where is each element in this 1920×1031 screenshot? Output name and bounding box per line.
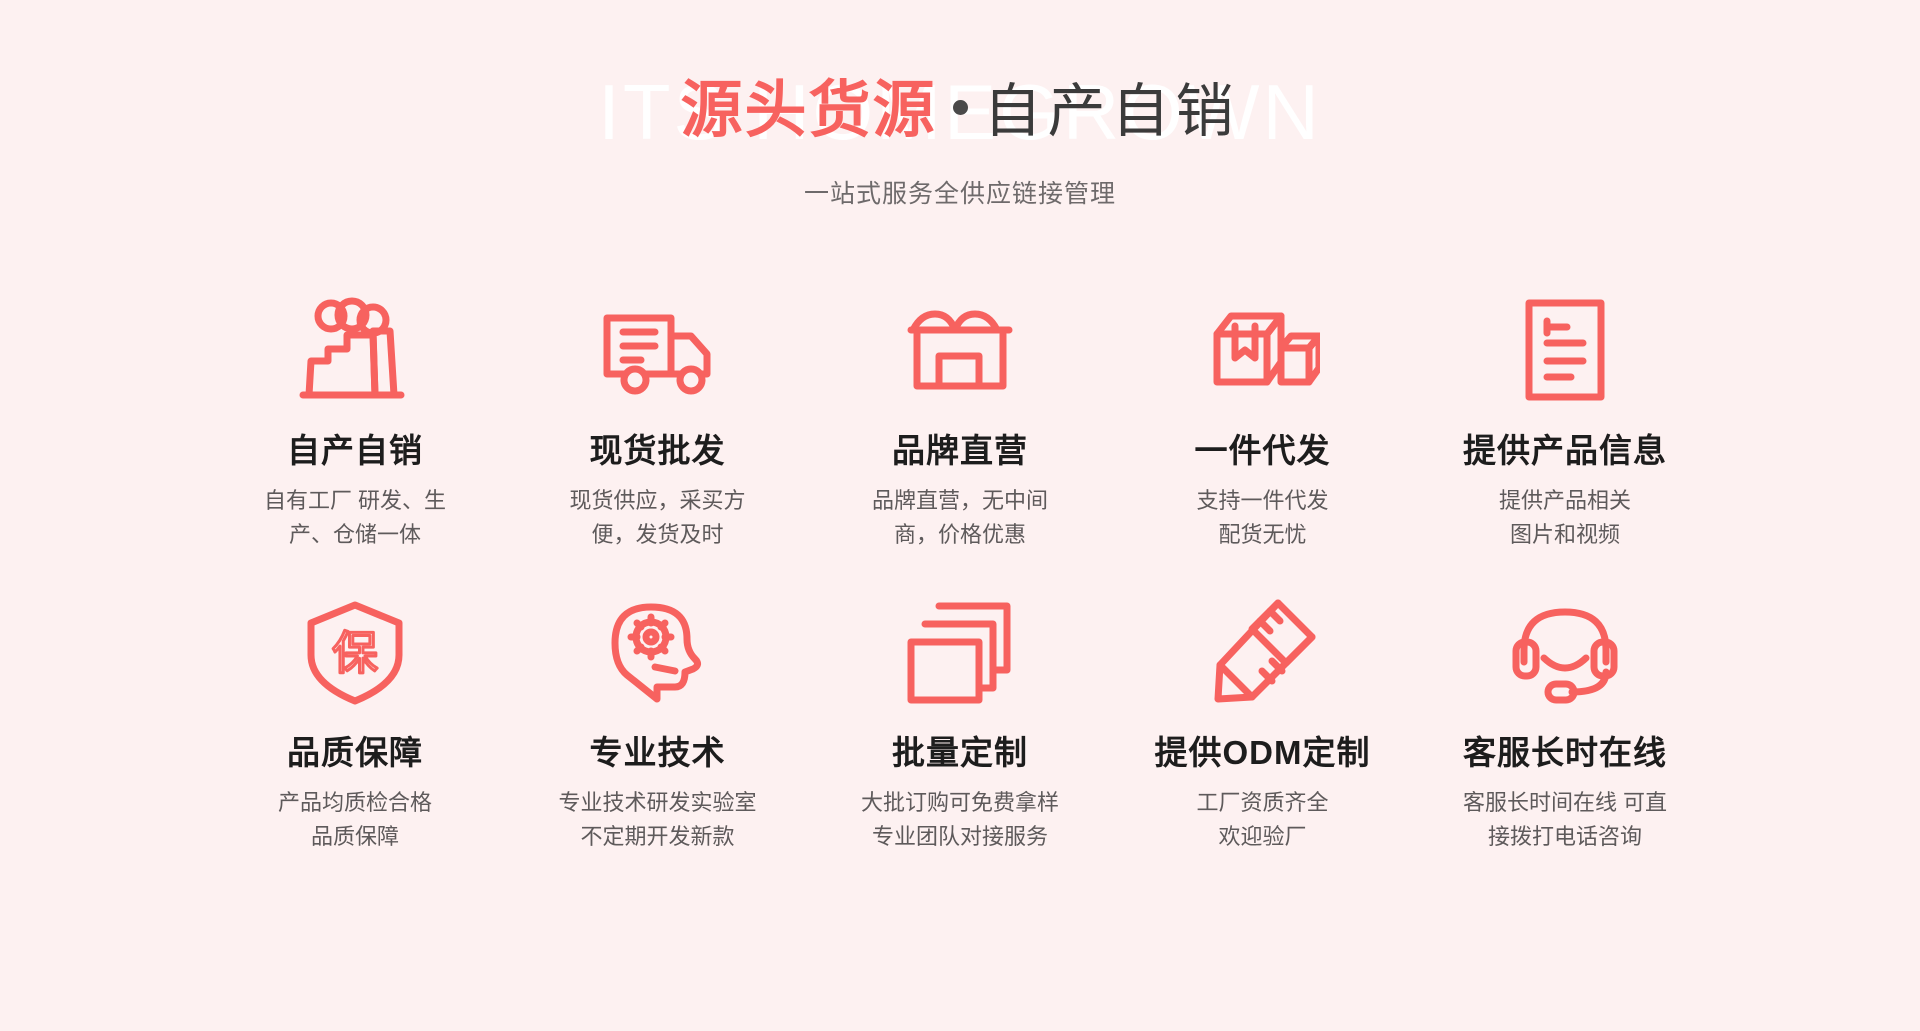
feature-cell-self-production: 自产自销 自有工厂 研发、生 产、仓储一体 (210, 290, 500, 552)
feature-title: 批量定制 (815, 726, 1105, 774)
head-gear-icon (513, 592, 803, 712)
feature-desc: 品牌直营，无中间 商，价格优惠 (815, 484, 1105, 552)
shield-guarantee-icon: 保 (210, 592, 500, 712)
page-subtitle: 一站式服务全供应链接管理 (0, 174, 1920, 210)
headset-icon (1420, 592, 1710, 712)
feature-cell-product-info: 提供产品信息 提供产品相关 图片和视频 (1420, 290, 1710, 552)
feature-cell-odm: 提供ODM定制 工厂资质齐全 欢迎验厂 (1118, 592, 1408, 854)
feature-cell-support: 客服长时在线 客服长时间在线 可直 接拨打电话咨询 (1420, 592, 1710, 854)
feature-desc: 现货供应，采买方 便，发货及时 (513, 484, 803, 552)
feature-title: 提供ODM定制 (1118, 726, 1408, 774)
feature-cell-quality: 保 品质保障 产品均质检合格 品质保障 (210, 592, 500, 854)
feature-row-2: 保 品质保障 产品均质检合格 品质保障 专业技术 专业技 (210, 592, 1710, 854)
delivery-truck-icon (513, 290, 803, 410)
feature-desc: 专业技术研发实验室 不定期开发新款 (513, 786, 803, 854)
feature-desc: 支持一件代发 配货无忧 (1118, 484, 1408, 552)
feature-desc: 自有工厂 研发、生 产、仓储一体 (210, 484, 500, 552)
feature-title: 提供产品信息 (1420, 424, 1710, 472)
title-rest: 自产自销 (984, 79, 1240, 144)
title-highlight: 源头货源 (680, 73, 936, 146)
feature-desc: 客服长时间在线 可直 接拨打电话咨询 (1420, 786, 1710, 854)
banner-header: ITS HOMEGROWN 源头货源自产自销 一站式服务全供应链接管理 (0, 60, 1920, 210)
storefront-icon (815, 290, 1105, 410)
feature-cell-dropship: 一件代发 支持一件代发 配货无忧 (1118, 290, 1408, 552)
feature-cell-bulk-custom: 批量定制 大批订购可免费拿样 专业团队对接服务 (815, 592, 1105, 854)
feature-title: 品牌直营 (815, 424, 1105, 472)
feature-title: 现货批发 (513, 424, 803, 472)
title-wrap: ITS HOMEGROWN 源头货源自产自销 (0, 60, 1920, 160)
svg-text:保: 保 (332, 626, 378, 680)
feature-desc: 工厂资质齐全 欢迎验厂 (1118, 786, 1408, 854)
parcel-boxes-icon (1118, 290, 1408, 410)
feature-desc: 大批订购可免费拿样 专业团队对接服务 (815, 786, 1105, 854)
title-separator-dot (953, 100, 968, 115)
factory-icon (210, 290, 500, 410)
feature-desc: 提供产品相关 图片和视频 (1420, 484, 1710, 552)
promo-banner: ITS HOMEGROWN 源头货源自产自销 一站式服务全供应链接管理 (0, 0, 1920, 1031)
feature-title: 客服长时在线 (1420, 726, 1710, 774)
stacked-sheets-icon (815, 592, 1105, 712)
feature-title: 品质保障 (210, 726, 500, 774)
pencil-ruler-icon (1118, 592, 1408, 712)
feature-grid: 自产自销 自有工厂 研发、生 产、仓储一体 现货批发 现货供应，采买方 便，发货… (210, 290, 1710, 854)
feature-cell-brand-direct: 品牌直营 品牌直营，无中间 商，价格优惠 (815, 290, 1105, 552)
feature-desc: 产品均质检合格 品质保障 (210, 786, 500, 854)
document-info-icon (1420, 290, 1710, 410)
feature-title: 一件代发 (1118, 424, 1408, 472)
feature-cell-wholesale: 现货批发 现货供应，采买方 便，发货及时 (513, 290, 803, 552)
feature-cell-technology: 专业技术 专业技术研发实验室 不定期开发新款 (513, 592, 803, 854)
feature-title: 专业技术 (513, 726, 803, 774)
feature-title: 自产自销 (210, 424, 500, 472)
feature-row-1: 自产自销 自有工厂 研发、生 产、仓储一体 现货批发 现货供应，采买方 便，发货… (210, 290, 1710, 552)
page-title: 源头货源自产自销 (0, 60, 1920, 177)
